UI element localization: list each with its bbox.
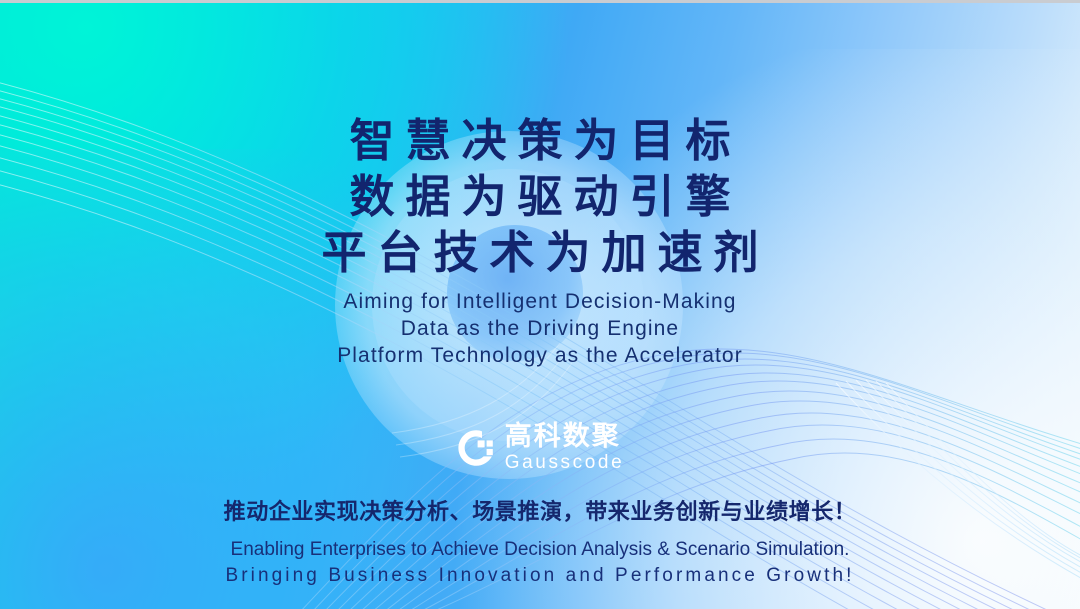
logo-name-chinese: 高科数聚 [505,423,625,450]
gausscode-g-mark-icon [456,428,496,468]
tagline-chinese: 推动企业实现决策分析、场景推演，带来业务创新与业绩增长！ [224,494,857,526]
logo-wordmark: 高科数聚 Gausscode [505,423,625,472]
subheadline-english: Aiming for Intelligent Decision-Making D… [337,288,743,369]
poster-content: 智慧决策为目标 数据为驱动引擎 平台技术为加速剂 Aiming for Inte… [0,3,1080,609]
headline-line-2: 数据为驱动引擎 [310,169,769,225]
headline-line-3: 平台技术为加速剂 [310,225,769,281]
promotional-banner: 智慧决策为目标 数据为驱动引擎 平台技术为加速剂 Aiming for Inte… [0,0,1080,609]
subheadline-line-1: Aiming for Intelligent Decision-Making [337,288,743,315]
tagline-english-line-2: Bringing Business Innovation and Perform… [225,563,854,589]
subheadline-line-3: Platform Technology as the Accelerator [337,342,743,369]
headline-line-1: 智慧决策为目标 [310,113,769,169]
tagline-english: Enabling Enterprises to Achieve Decision… [225,537,854,589]
logo-name-english: Gausscode [505,453,625,472]
tagline-english-line-1: Enabling Enterprises to Achieve Decision… [225,537,854,563]
company-logo: 高科数聚 Gausscode [456,423,625,472]
subheadline-line-2: Data as the Driving Engine [337,315,743,342]
headline-chinese: 智慧决策为目标 数据为驱动引擎 平台技术为加速剂 [310,113,769,281]
